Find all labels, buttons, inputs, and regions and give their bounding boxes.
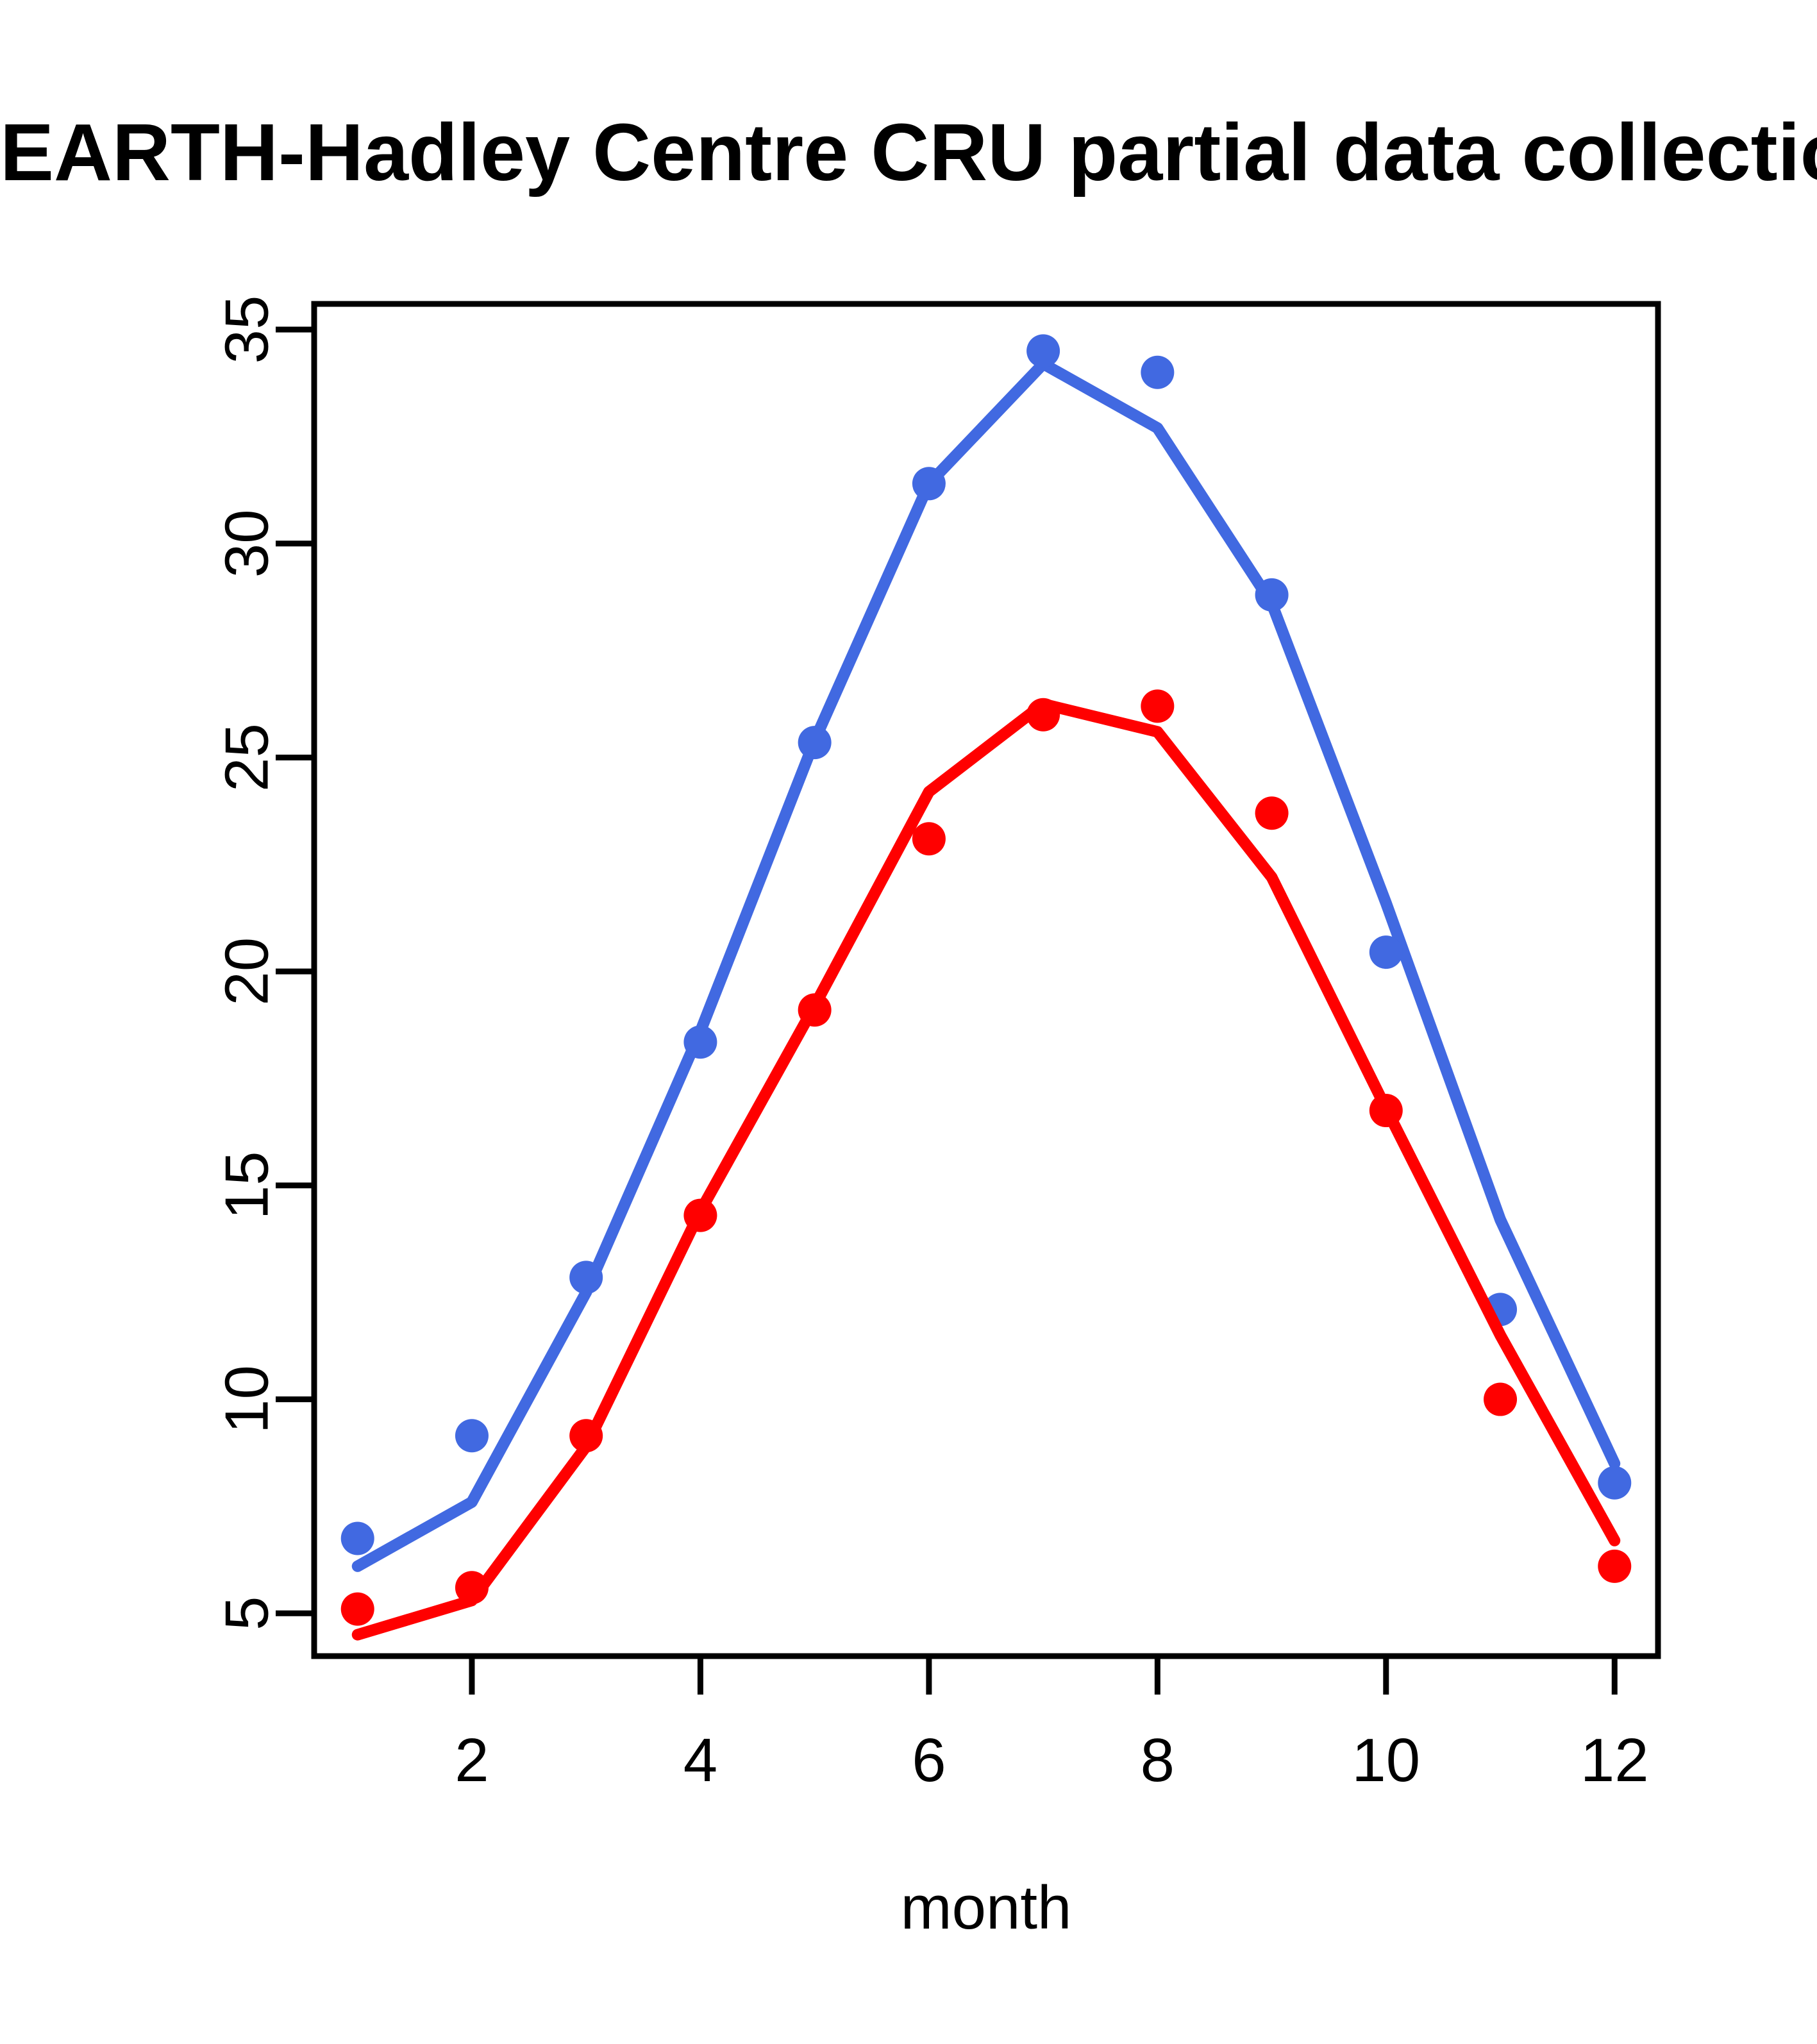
series-point-red-points bbox=[1026, 698, 1060, 732]
x-axis-ticks: 24681012 bbox=[455, 1656, 1648, 1795]
series-point-red-points bbox=[1141, 689, 1174, 723]
series-point-blue-points bbox=[1026, 334, 1060, 367]
series-point-blue-points bbox=[683, 1025, 717, 1059]
series-point-red-points bbox=[569, 1419, 603, 1452]
figure-canvas: EARTH-Hadley Centre CRU partial data col… bbox=[0, 0, 1817, 2044]
series-point-blue-points bbox=[1141, 356, 1174, 389]
y-axis-ticks: 5101520253035 bbox=[213, 296, 315, 1630]
series-point-blue-points bbox=[1598, 1466, 1631, 1500]
series-point-red-points bbox=[683, 1199, 717, 1232]
series-point-red-points bbox=[455, 1571, 489, 1604]
series-point-red-points bbox=[1598, 1550, 1631, 1583]
x-tick-label: 10 bbox=[1352, 1726, 1420, 1795]
series-point-blue-points bbox=[798, 726, 832, 759]
series-line-red-line bbox=[358, 704, 1615, 1635]
series-point-red-points bbox=[341, 1593, 374, 1626]
y-tick-label: 25 bbox=[213, 723, 281, 792]
x-tick-label: 4 bbox=[683, 1726, 717, 1795]
series-line-blue-line bbox=[358, 364, 1615, 1566]
y-tick-label: 20 bbox=[213, 937, 281, 1006]
x-tick-label: 12 bbox=[1580, 1726, 1649, 1795]
x-axis-label: month bbox=[901, 1873, 1072, 1942]
x-tick-label: 2 bbox=[455, 1726, 489, 1795]
series-point-blue-points bbox=[569, 1261, 603, 1294]
series-point-blue-points bbox=[1255, 578, 1289, 612]
series-point-red-points bbox=[1484, 1383, 1517, 1416]
series-point-red-points bbox=[798, 993, 832, 1026]
y-tick-label: 35 bbox=[213, 296, 281, 364]
x-tick-label: 8 bbox=[1141, 1726, 1175, 1795]
series-point-blue-points bbox=[341, 1521, 374, 1555]
y-tick-label: 10 bbox=[213, 1365, 281, 1434]
x-tick-label: 6 bbox=[912, 1726, 946, 1795]
y-tick-label: 30 bbox=[213, 509, 281, 578]
plot-area: 5101520253035 24681012 month bbox=[0, 0, 1817, 2044]
series-point-red-points bbox=[1369, 1094, 1403, 1127]
series-point-blue-points bbox=[1369, 935, 1403, 969]
data-series-layer bbox=[341, 334, 1632, 1634]
series-point-red-points bbox=[1255, 796, 1289, 830]
series-point-red-points bbox=[912, 822, 946, 855]
y-tick-label: 15 bbox=[213, 1151, 281, 1219]
plot-frame bbox=[314, 304, 1658, 1656]
series-point-blue-points bbox=[455, 1419, 489, 1452]
series-point-blue-points bbox=[912, 467, 946, 500]
y-tick-label: 5 bbox=[213, 1596, 281, 1630]
